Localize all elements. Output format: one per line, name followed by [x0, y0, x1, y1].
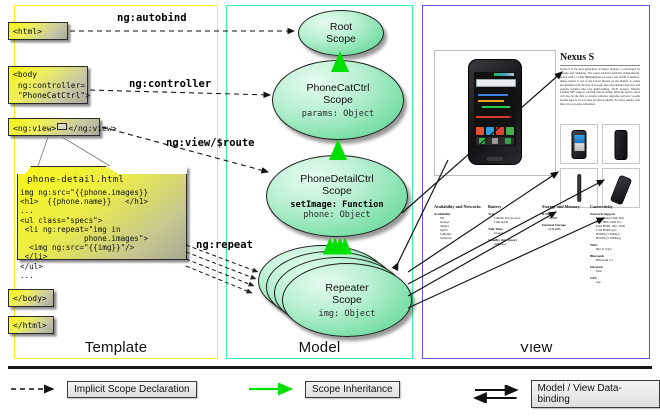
- legend-label-inheritance: Scope Inheritance: [305, 381, 400, 398]
- thumbnail-front[interactable]: [560, 124, 598, 164]
- phone-home-button-icon: [487, 157, 503, 161]
- title-divider: [560, 65, 640, 66]
- spec-value: false: [590, 269, 642, 273]
- template-note-phone-detail: phone-detail.html img ng:src="{{phone.im…: [17, 166, 187, 260]
- spec-column: Storage and MemoryRAM512MBInternal Stora…: [542, 204, 594, 231]
- scope-repeater: Repeater Scope img: Object: [282, 263, 412, 337]
- legend-item-data-binding: Model / View Data-binding: [473, 380, 660, 408]
- diagram-canvas: Template Model View <html> <body ng:cont…: [0, 0, 660, 420]
- spec-column: ConnectivityNetwork SupportQuad-band GSM…: [590, 204, 642, 284]
- legend-item-implicit-scope-declaration: Implicit Scope Declaration: [9, 380, 197, 398]
- scope-phonecatctrl: PhoneCatCtrl Scope params: Object: [272, 60, 404, 140]
- edge-label-ng-autobind: ng:autobind: [117, 12, 187, 24]
- thumbnail-gallery: [560, 124, 642, 208]
- spec-value: Bluetooth 2.1: [590, 258, 642, 262]
- thumbnail-side[interactable]: [560, 168, 598, 208]
- legend-label-implicit: Implicit Scope Declaration: [67, 381, 197, 398]
- spec-column-header: Availability and Networks: [434, 204, 486, 209]
- legend: Implicit Scope Declaration Scope Inherit…: [0, 372, 660, 416]
- dashed-arrow-icon: [9, 380, 61, 398]
- edge-label-ng-repeat: ng:repeat: [196, 239, 253, 251]
- spec-value: 6 hours: [488, 231, 540, 235]
- spec-value: 1500 mAH: [488, 220, 540, 224]
- phone-app-icons: [476, 127, 514, 135]
- spec-value: Vodafone: [434, 236, 486, 240]
- ng-view-open-tag: <ng:view>: [13, 124, 56, 133]
- scope-detail-line2: Scope: [322, 185, 352, 197]
- scope-phonedetailctrl: PhoneDetailCtrl Scope setImage: Function…: [266, 155, 408, 237]
- scope-repeater-line2: Scope: [332, 294, 362, 306]
- phone-device-illustration: [468, 59, 522, 165]
- phone-screen: [474, 72, 516, 146]
- spec-column: Availability and NetworksAvailabilityM1O…: [434, 204, 486, 240]
- double-arrow-icon: [473, 385, 525, 403]
- note-code: img ng:src="{{phone.images}} <h1> {{phon…: [20, 188, 185, 280]
- scope-cat-prop-params: params: Object: [302, 109, 374, 119]
- product-title: Nexus S: [560, 52, 594, 63]
- legend-separator: [8, 366, 652, 369]
- spec-value: 512MB: [542, 216, 594, 220]
- code-box-body-open: <body ng:controller= "PhoneCatCtrl">: [8, 66, 88, 104]
- thumbnail-angled[interactable]: [602, 168, 640, 208]
- spec-value: 428 hours: [488, 242, 540, 246]
- spec-value: 16364MB: [542, 227, 594, 231]
- phone-statusbar-icon: [494, 73, 514, 76]
- spec-value: 802.11 b/g/n: [590, 247, 642, 251]
- edge-label-ng-controller: ng:controller: [129, 78, 211, 90]
- scope-root-line2: Scope: [326, 33, 356, 45]
- scope-root: Root Scope: [298, 10, 384, 56]
- spec-column: BatteryTypeLithium Ion (Li-Ion)1500 mAHT…: [488, 204, 540, 246]
- view-placeholder-icon: [57, 123, 67, 130]
- scope-detail-prop-phone: phone: Object: [303, 210, 370, 220]
- scope-detail-prop-setimage: setImage: Function: [290, 200, 383, 210]
- edge-label-ng-view-route: ng:view/$route: [166, 137, 255, 149]
- scope-repeater-prop-img: img: Object: [319, 309, 376, 319]
- phone-search-box: [476, 79, 516, 87]
- scope-detail-line1: PhoneDetailCtrl: [300, 173, 374, 185]
- code-box-body-close: </body>: [8, 289, 54, 307]
- green-arrow-icon: [247, 380, 299, 398]
- spec-column-header: Storage and Memory: [542, 204, 594, 209]
- spec-column-header: Battery: [488, 204, 540, 209]
- scope-root-line1: Root: [330, 21, 352, 33]
- scope-repeater-line1: Repeater: [325, 282, 368, 294]
- note-title: phone-detail.html: [27, 175, 124, 185]
- code-box-html-open: <html>: [8, 22, 68, 40]
- code-box-ng-view: <ng:view></ng:view>: [8, 118, 100, 136]
- scope-cat-line1: PhoneCatCtrl: [306, 82, 369, 94]
- legend-label-databinding: Model / View Data-binding: [531, 380, 660, 408]
- spec-table: Availability and NetworksAvailabilityM1O…: [432, 204, 640, 304]
- spec-value: HSUPA (5.76Mbps): [590, 236, 642, 240]
- phone-hero-image: [434, 50, 556, 176]
- scope-cat-line2: Scope: [323, 94, 353, 106]
- panel-label-template: Template: [15, 339, 217, 356]
- legend-item-scope-inheritance: Scope Inheritance: [247, 380, 400, 398]
- spec-column-header: Connectivity: [590, 204, 642, 209]
- code-box-html-close: </html>: [8, 316, 54, 334]
- view-rendered-page: Nexus S Nexus S is the next generation o…: [432, 14, 640, 344]
- spec-value: true: [590, 280, 642, 284]
- product-description: Nexus S is the next generation of Nexus …: [560, 68, 640, 107]
- thumbnail-back[interactable]: [602, 124, 640, 164]
- phone-dock: [476, 137, 514, 145]
- ng-view-close-tag: </ng:view>: [68, 124, 116, 133]
- panel-label-model: Model: [227, 339, 412, 356]
